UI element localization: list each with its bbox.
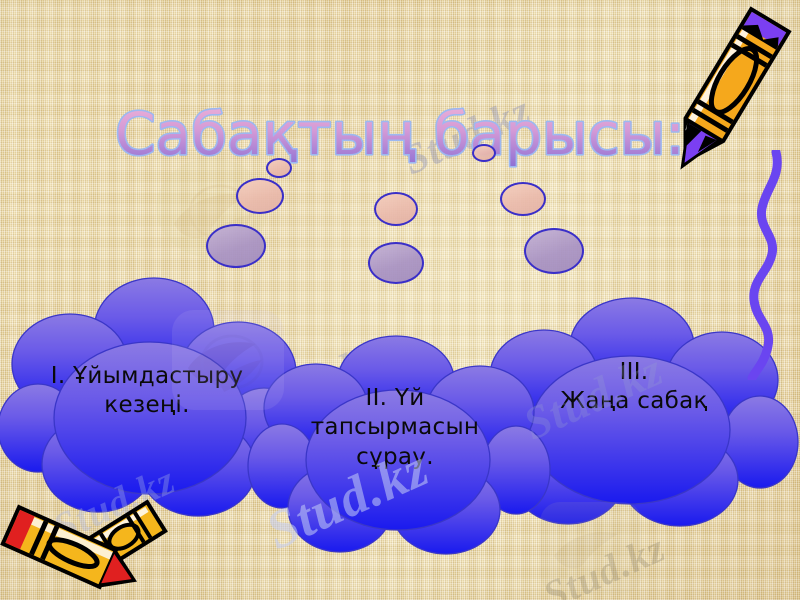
hummingbird-logo-watermark-top	[150, 150, 280, 275]
presentation-slide: Stud.kz Stud.kz Stud.kz Сабақтың барысы:	[0, 0, 800, 600]
page-title: Сабақтың барысы:	[0, 96, 800, 179]
thought-bubble	[472, 144, 496, 162]
thought-bubble	[236, 178, 284, 214]
thought-bubble	[206, 224, 266, 268]
thought-bubble	[524, 228, 584, 274]
crayon-top-right	[648, 0, 798, 189]
thought-bubble	[374, 192, 418, 226]
thought-bubble	[368, 242, 424, 284]
thought-bubble	[266, 158, 292, 178]
title-label: Сабақтың барысы:	[115, 100, 685, 168]
watermark-text: Stud.kz	[396, 87, 538, 185]
cloud-homework-review[interactable]	[256, 332, 546, 566]
thought-bubble	[500, 182, 546, 216]
